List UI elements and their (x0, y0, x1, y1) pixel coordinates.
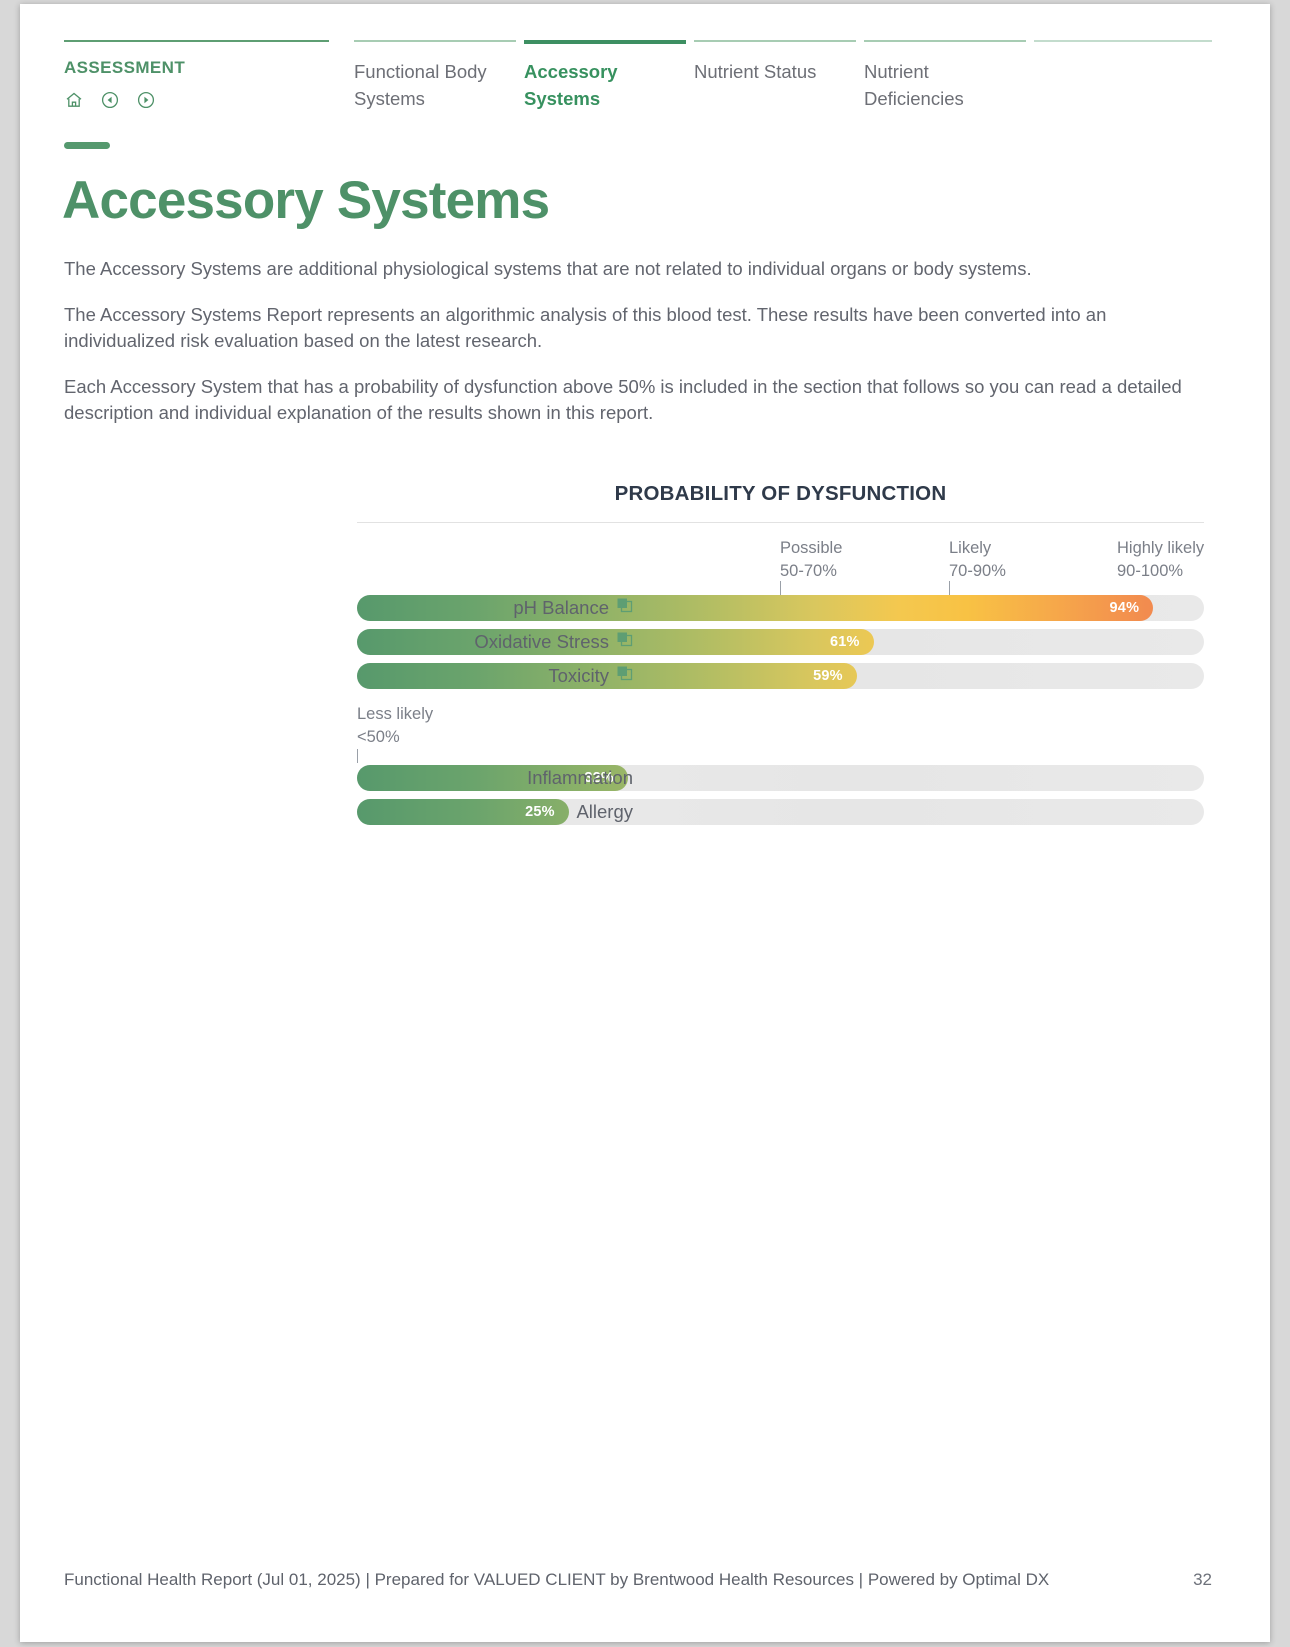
row-label-oxidative-stress-text: Oxidative Stress (474, 631, 609, 653)
row-label-toxicity: Toxicity (548, 665, 633, 687)
report-page: ASSESSMENT (20, 4, 1270, 1642)
chart-title: PROBABILITY OF DYSFUNCTION (357, 482, 1204, 506)
bar-value-oxidative-stress: 61% (830, 634, 874, 650)
bar-row-oxidative-stress: 61% Oxidative Stress (357, 629, 1204, 663)
bar-value-ph-balance: 94% (1110, 600, 1154, 616)
previous-icon[interactable] (100, 90, 120, 110)
band-less-likely: Less likely <50% (357, 703, 467, 748)
band-highly-likely-range: 90-100% (1117, 560, 1207, 583)
bar-row-ph-balance: 94% pH Balance (357, 595, 1204, 629)
header-tabs: Functional Body Systems Accessory System… (354, 40, 1212, 112)
row-label-allergy: Allergy (576, 801, 633, 823)
intro-paragraph-2: The Accessory Systems Report represents … (64, 302, 1199, 354)
tab-nutrient-deficiencies[interactable]: Nutrient Deficiencies (864, 40, 1026, 112)
row-label-inflammation-text: Inflammation (527, 767, 633, 789)
bar-fill-allergy: 25% (357, 799, 569, 825)
band-highly-likely-name: Highly likely (1117, 537, 1207, 560)
band-likely-range: 70-90% (949, 560, 1059, 583)
band-likely-tick (949, 581, 950, 595)
page-footer: Functional Health Report (Jul 01, 2025) … (64, 1570, 1212, 1590)
row-label-ph-balance-text: pH Balance (513, 597, 609, 619)
chart-scale-upper: Possible 50-70% Likely 70-90% Highly lik… (357, 523, 1204, 595)
band-likely-name: Likely (949, 537, 1059, 560)
footer-page-number: 32 (1193, 1570, 1212, 1590)
row-label-oxidative-stress: Oxidative Stress (474, 631, 633, 653)
bar-value-toxicity: 59% (813, 668, 857, 684)
band-less-likely-tick (357, 749, 358, 763)
intro-paragraphs: The Accessory Systems are additional phy… (64, 256, 1199, 446)
assessment-label: ASSESSMENT (64, 58, 354, 78)
chart-scale-lower: Less likely <50% (357, 697, 1204, 765)
copy-icon[interactable] (616, 665, 633, 687)
intro-paragraph-1: The Accessory Systems are additional phy… (64, 256, 1199, 282)
bar-row-allergy: 25% Allergy (357, 799, 1204, 833)
row-label-inflammation: Inflammation (527, 767, 633, 789)
tab-accessory-systems[interactable]: Accessory Systems (524, 40, 686, 112)
band-less-likely-name: Less likely (357, 703, 467, 726)
copy-icon[interactable] (616, 631, 633, 653)
bar-fill-ph-balance: 94% (357, 595, 1153, 621)
band-possible: Possible 50-70% (780, 537, 890, 582)
intro-paragraph-3: Each Accessory System that has a probabi… (64, 374, 1199, 426)
copy-icon[interactable] (616, 597, 633, 619)
home-icon[interactable] (64, 90, 84, 110)
bar-row-toxicity: 59% Toxicity (357, 663, 1204, 697)
page-title: Accessory Systems (62, 170, 549, 231)
tab-nutrient-status[interactable]: Nutrient Status (694, 40, 856, 112)
bar-value-allergy: 25% (525, 804, 569, 820)
band-possible-range: 50-70% (780, 560, 890, 583)
page-header: ASSESSMENT (64, 40, 1212, 112)
title-accent-dash (64, 142, 110, 149)
band-highly-likely: Highly likely 90-100% (1117, 537, 1207, 582)
footer-text: Functional Health Report (Jul 01, 2025) … (64, 1570, 1049, 1590)
band-possible-tick (780, 581, 781, 595)
band-likely: Likely 70-90% (949, 537, 1059, 582)
assessment-rule (64, 40, 329, 42)
band-less-likely-range: <50% (357, 726, 467, 749)
row-label-ph-balance: pH Balance (513, 597, 633, 619)
band-possible-name: Possible (780, 537, 890, 560)
probability-chart: PROBABILITY OF DYSFUNCTION Possible 50-7… (357, 482, 1204, 833)
next-icon[interactable] (136, 90, 156, 110)
assessment-block: ASSESSMENT (64, 40, 354, 110)
tab-spacer (1034, 40, 1212, 112)
nav-icons (64, 90, 354, 110)
row-label-toxicity-text: Toxicity (548, 665, 609, 687)
bar-row-inflammation: 32% Inflammation (357, 765, 1204, 799)
tab-functional-body-systems[interactable]: Functional Body Systems (354, 40, 516, 112)
row-label-allergy-text: Allergy (576, 801, 633, 823)
